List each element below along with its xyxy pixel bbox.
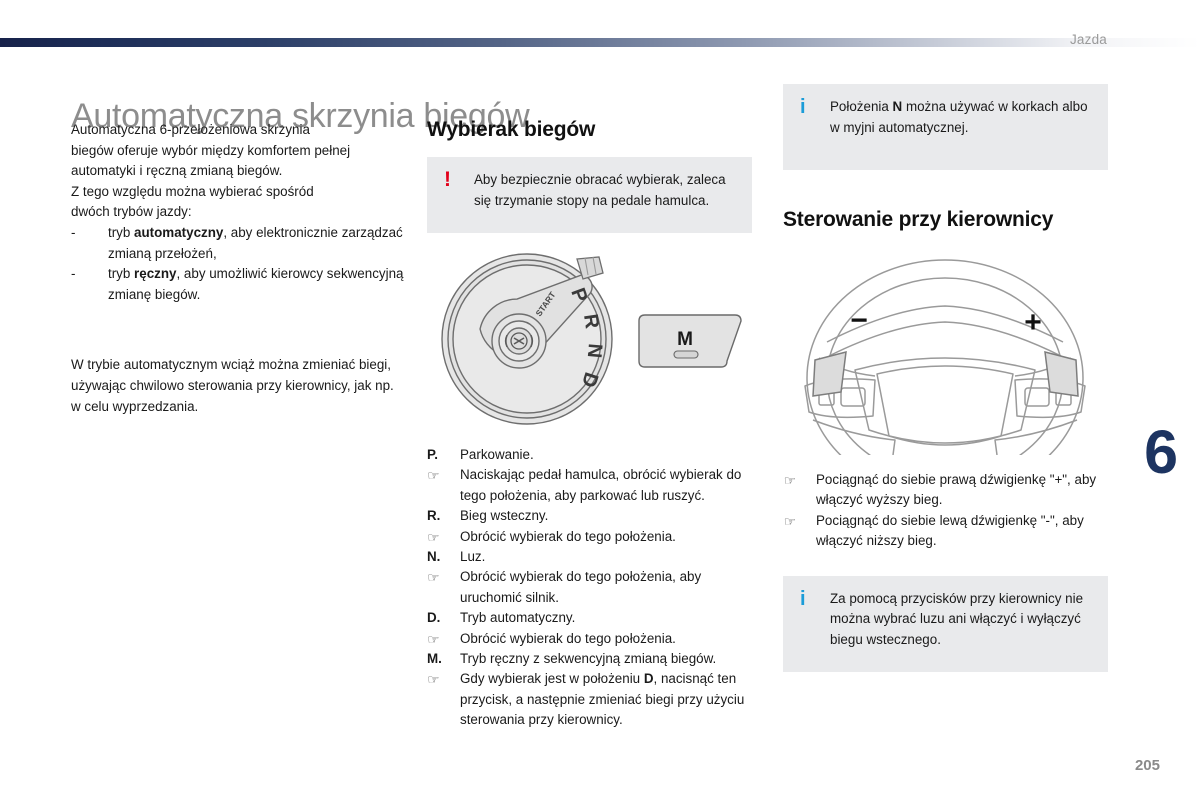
intro-line-2: automatyki i ręczną zmianą biegów.: [71, 161, 406, 182]
second-paragraph: W trybie automatycznym wciąż można zmien…: [71, 355, 406, 417]
position-text: Bieg wsteczny.: [460, 508, 548, 523]
pointing-hand-icon: ☞: [427, 528, 456, 548]
info-i-icon: i: [796, 97, 830, 154]
dial-label-n: N: [583, 343, 606, 359]
list-item: ☞ Pociągnąć do siebie prawą dźwigienkę "…: [783, 470, 1108, 511]
mode-text-bold: ręczny: [134, 266, 176, 281]
mode-text-before: tryb: [108, 225, 134, 240]
left-column: Automatyczna 6-przełożeniowa skrzynia bi…: [71, 120, 406, 417]
position-text: Obrócić wybierak do tego położenia.: [460, 631, 676, 646]
list-item: ☞ Obrócić wybierak do tego położenia, ab…: [427, 567, 752, 608]
position-marker: D.: [427, 608, 455, 628]
steering-controls-heading: Sterowanie przy kierownicy: [783, 208, 1108, 232]
list-item: D. Tryb automatyczny.: [427, 608, 752, 628]
gear-selector-dial-figure: START P R N D M: [427, 251, 752, 431]
info-text-bold: N: [893, 99, 903, 114]
list-item: ☞ Gdy wybierak jest w położeniu D, nacis…: [427, 669, 752, 730]
info-callout-bottom: i Za pomocą przycisków przy kierownicy n…: [783, 576, 1108, 672]
warning-callout: ! Aby bezpiecznie obracać wybierak, zale…: [427, 157, 752, 233]
position-text: Tryb automatyczny.: [460, 610, 575, 625]
position-text: Luz.: [460, 549, 485, 564]
list-item: ☞ Obrócić wybierak do tego położenia.: [427, 629, 752, 649]
paddle-usage-list: ☞ Pociągnąć do siebie prawą dźwigienkę "…: [783, 470, 1108, 552]
gear-positions-list: P. Parkowanie. ☞ Naciskając pedał hamulc…: [427, 445, 752, 731]
page-number: 205: [1135, 757, 1160, 774]
dash-marker: -: [71, 264, 75, 285]
info-callout-bottom-text: Za pomocą przycisków przy kierownicy nie…: [830, 589, 1092, 656]
mode-text-bold: automatyczny: [134, 225, 223, 240]
list-item: R. Bieg wsteczny.: [427, 506, 752, 526]
steering-wheel-paddles-figure: − +: [783, 250, 1108, 460]
bullet-text: Pociągnąć do siebie lewą dźwigienkę "-",…: [816, 513, 1084, 548]
warning-exclamation-icon: !: [440, 170, 474, 217]
position-text-before: Gdy wybierak jest w położeniu: [460, 671, 644, 686]
intro-line-4: dwóch trybów jazdy:: [71, 202, 406, 223]
pointing-hand-icon: ☞: [427, 466, 456, 486]
header-section-title: Jazda: [1070, 32, 1107, 47]
position-text: Naciskając pedał hamulca, obrócić wybier…: [460, 467, 741, 502]
position-marker: P.: [427, 445, 455, 465]
position-marker: N.: [427, 547, 455, 567]
list-item: N. Luz.: [427, 547, 752, 567]
intro-line-3: Z tego względu można wybierać spośród: [71, 182, 406, 203]
list-item: M. Tryb ręczny z sekwencyjną zmianą bieg…: [427, 649, 752, 669]
manual-button-label: M: [677, 329, 693, 350]
info-callout-top-text: Położenia N można używać w korkach albo …: [830, 97, 1092, 154]
header-gradient-rule: [0, 38, 1200, 47]
list-item: ☞ Naciskając pedał hamulca, obrócić wybi…: [427, 465, 752, 506]
mode-text-before: tryb: [108, 266, 134, 281]
position-marker: M.: [427, 649, 455, 669]
intro-paragraph: Automatyczna 6-przełożeniowa skrzynia bi…: [71, 120, 406, 223]
intro-line-0: Automatyczna 6-przełożeniowa skrzynia: [71, 120, 406, 141]
pointing-hand-icon: ☞: [427, 568, 456, 588]
list-item: ☞ Pociągnąć do siebie lewą dźwigienkę "-…: [783, 511, 1108, 552]
warning-callout-text: Aby bezpiecznie obracać wybierak, zaleca…: [474, 170, 736, 217]
middle-column: Wybierak biegów ! Aby bezpiecznie obraca…: [427, 118, 752, 731]
list-item: - tryb automatyczny, aby elektronicznie …: [71, 223, 406, 264]
position-text: Tryb ręczny z sekwencyjną zmianą biegów.: [460, 651, 716, 666]
gear-selector-heading: Wybierak biegów: [427, 118, 752, 142]
driving-modes-list: - tryb automatyczny, aby elektronicznie …: [71, 223, 406, 305]
minus-label: −: [850, 304, 868, 337]
position-marker: R.: [427, 506, 455, 526]
pointing-hand-icon: ☞: [784, 512, 796, 532]
position-text: Obrócić wybierak do tego położenia, aby …: [460, 569, 701, 604]
info-callout-top: i Położenia N można używać w korkach alb…: [783, 84, 1108, 170]
pointing-hand-icon: ☞: [427, 670, 456, 690]
dash-marker: -: [71, 223, 75, 244]
position-text: Parkowanie.: [460, 447, 534, 462]
pointing-hand-icon: ☞: [427, 630, 456, 650]
manual-mode-button: M: [639, 315, 741, 367]
list-item: - tryb ręczny, aby umożliwić kierowcy se…: [71, 264, 406, 305]
right-paddle-shifter: [1045, 352, 1078, 396]
pointing-hand-icon: ☞: [784, 471, 796, 491]
plus-label: +: [1024, 306, 1042, 339]
list-item: ☞ Obrócić wybierak do tego położenia.: [427, 527, 752, 547]
info-i-icon: i: [796, 589, 830, 656]
bullet-text: Pociągnąć do siebie prawą dźwigienkę "+"…: [816, 472, 1096, 507]
spacer: [71, 305, 406, 355]
chapter-number-badge: 6: [1144, 422, 1178, 483]
list-item: P. Parkowanie.: [427, 445, 752, 465]
left-paddle-shifter: [813, 352, 846, 396]
position-text-bold: D: [644, 671, 654, 686]
right-column: i Położenia N można używać w korkach alb…: [783, 84, 1108, 672]
intro-line-1: biegów oferuje wybór między komfortem pe…: [71, 141, 406, 162]
info-text-before: Położenia: [830, 99, 893, 114]
position-text: Obrócić wybierak do tego położenia.: [460, 529, 676, 544]
